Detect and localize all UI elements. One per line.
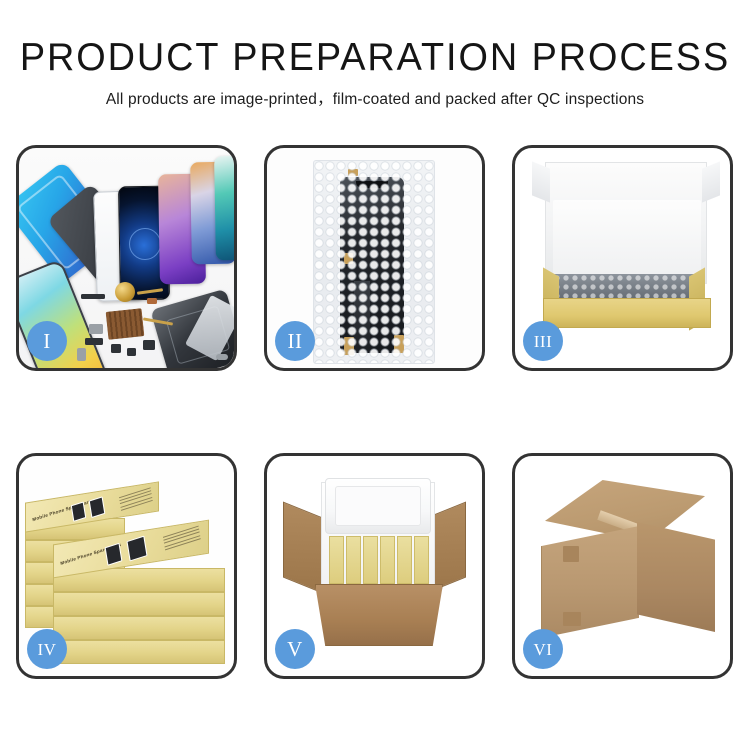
page-subtitle: All products are image-printed，film-coat… — [0, 87, 750, 109]
box-spec-lines — [119, 487, 153, 512]
step-numeral: IV — [38, 641, 57, 658]
box-product-thumbnail — [71, 501, 86, 521]
yellow-box-item — [329, 536, 344, 584]
box-spec-lines — [163, 526, 201, 553]
process-step-panel-5: V — [264, 453, 485, 679]
box-product-thumbnail — [105, 543, 123, 566]
box-product-thumbnail — [89, 496, 106, 518]
yellow-box-item — [397, 536, 412, 584]
step-badge-6: VI — [523, 629, 563, 669]
process-step-panel-2: II — [264, 145, 485, 371]
yellow-box-item — [363, 536, 378, 584]
product-preparation-infographic: PRODUCT PREPARATION PROCESS All products… — [0, 0, 750, 750]
page-title: PRODUCT PREPARATION PROCESS — [11, 36, 739, 80]
step-numeral: VI — [534, 641, 553, 658]
yellow-boxes-inside — [329, 536, 429, 584]
stacked-box — [53, 592, 225, 616]
step-badge-3: III — [523, 321, 563, 361]
process-step-panel-4: Mobile Phone Spare Parts Mobile Phone Sp… — [16, 453, 237, 679]
vibration-motor-part — [115, 282, 135, 302]
process-step-panel-1: I — [16, 145, 237, 371]
bubble-texture — [314, 161, 434, 363]
step-numeral: V — [287, 639, 303, 660]
step-badge-4: IV — [27, 629, 67, 669]
step-badge-5: V — [275, 629, 315, 669]
yellow-box-front — [543, 298, 711, 328]
yellow-box-item — [414, 536, 429, 584]
screw-part — [216, 354, 228, 360]
carton-side-face — [637, 522, 715, 632]
step-numeral: III — [534, 333, 552, 350]
header: PRODUCT PREPARATION PROCESS All products… — [0, 36, 750, 109]
teal-wave-display — [214, 156, 234, 261]
step-badge-1: I — [27, 321, 67, 361]
process-step-grid: I II — [16, 145, 735, 679]
copper-contact-part — [147, 298, 157, 304]
foam-sheet — [553, 200, 701, 274]
yellow-box-item — [380, 536, 395, 584]
process-step-panel-6: VI — [512, 453, 733, 679]
step-badge-2: II — [275, 321, 315, 361]
sim-tray-part — [77, 348, 86, 361]
camera-module-part — [89, 324, 103, 334]
carton-tab-upper — [563, 546, 579, 562]
carton-front-face — [541, 526, 639, 638]
speaker-part — [85, 338, 103, 345]
box-product-thumbnail — [126, 536, 147, 562]
yellow-box-item — [346, 536, 361, 584]
bubble-wrap-bag — [313, 160, 435, 364]
step-numeral: I — [43, 331, 51, 352]
step-numeral: II — [288, 331, 303, 352]
logic-board-part — [106, 308, 145, 340]
carton-front-panel — [315, 584, 443, 646]
small-chip-part — [111, 344, 121, 353]
stacked-box — [53, 640, 225, 664]
button-part — [143, 340, 155, 350]
connector-part — [81, 294, 105, 299]
process-step-panel-3: III — [512, 145, 733, 371]
stacked-box — [53, 616, 225, 640]
foam-box-lid — [325, 478, 431, 534]
small-chip-part — [127, 348, 136, 356]
carton-tab-lower — [563, 612, 581, 626]
